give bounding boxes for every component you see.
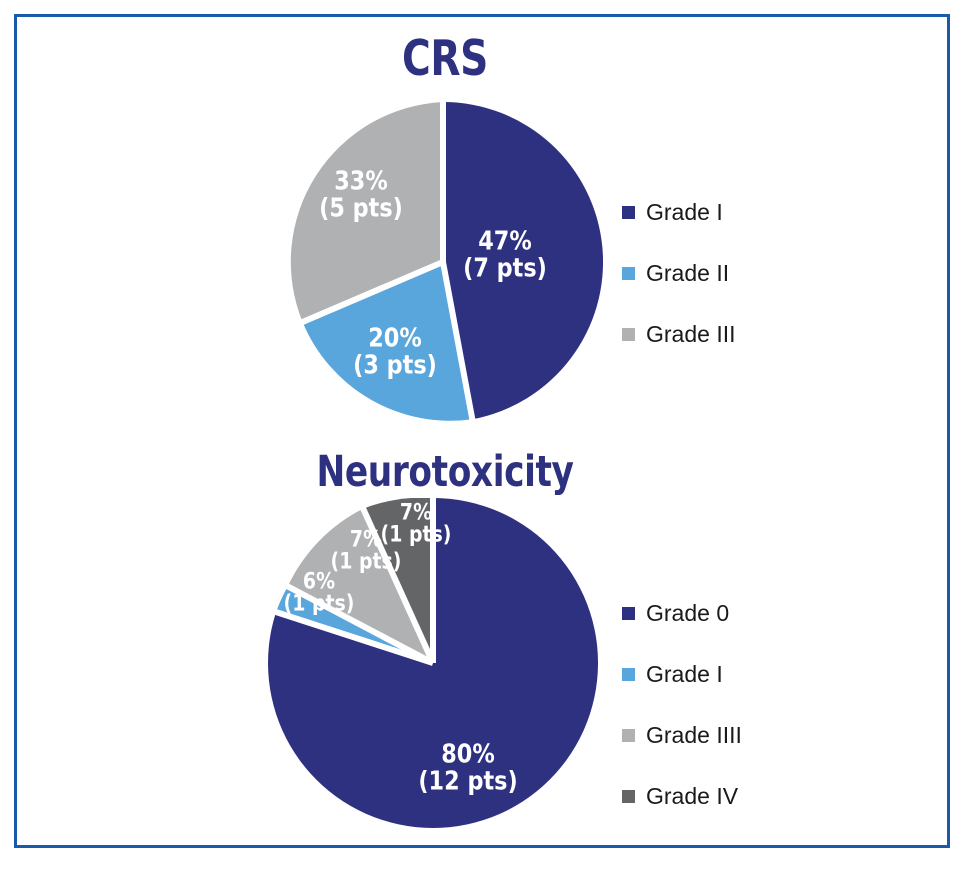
legend-label-neuro-grade-iv: Grade IV [646, 785, 738, 808]
legend-swatch-dark-gray [622, 790, 635, 803]
figure-root: CRS 47% (7 pts) [0, 0, 970, 870]
legend-label-crs-grade-i: Grade I [646, 201, 723, 224]
legend-label-neuro-grade-iiii: Grade IIII [646, 724, 742, 747]
chart-crs-title: CRS [317, 30, 573, 87]
legend-swatch-light-gray [622, 328, 635, 341]
legend-label-crs-grade-ii: Grade II [646, 262, 729, 285]
chart-neurotoxicity: Neurotoxicity 80% [0, 440, 970, 860]
chart-crs: CRS 47% (7 pts) [0, 0, 970, 440]
chart-neurotoxicity-pie-svg [268, 498, 598, 828]
legend-swatch-light-gray [622, 729, 635, 742]
legend-swatch-navy [622, 607, 635, 620]
legend-swatch-navy [622, 206, 635, 219]
legend-label-neuro-grade-0: Grade 0 [646, 602, 729, 625]
legend-label-neuro-grade-i: Grade I [646, 663, 723, 686]
chart-crs-pie: 47% (7 pts) 20% (3 pts) 33% (5 pts) [283, 102, 603, 422]
chart-crs-pie-svg [283, 102, 603, 422]
chart-neurotoxicity-pie: 80% (12 pts) 6% (1 pts) 7% (1 pts) 7% (1… [268, 498, 598, 828]
pie-slice-crs-grade-i [443, 102, 603, 419]
legend-swatch-light-blue [622, 267, 635, 280]
legend-label-crs-grade-iii: Grade III [646, 323, 735, 346]
legend-swatch-light-blue [622, 668, 635, 681]
chart-neurotoxicity-title: Neurotoxicity [309, 447, 581, 497]
